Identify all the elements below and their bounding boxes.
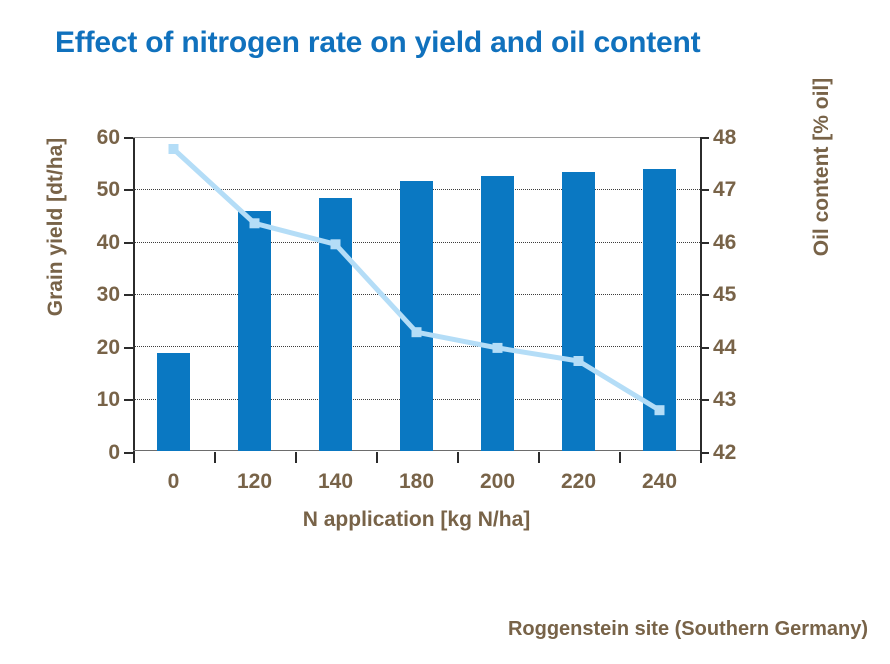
oil-content-line-series: [133, 137, 700, 451]
ytick-label-right-46: 46: [713, 231, 783, 255]
oil-marker-140[interactable]: [331, 239, 341, 249]
y-axis-title-left: Grain yield [dt/ha]: [44, 87, 68, 367]
ytick-label-left-10: 10: [50, 388, 120, 412]
tick-right-45: [700, 294, 709, 296]
tick-x-b0: [133, 452, 135, 463]
tick-right-47: [700, 189, 709, 191]
chart-plot-region: 60 50 40 30 20 10 0 48 47 46 45 44 43 42…: [0, 0, 890, 664]
tick-x-b4: [457, 452, 459, 463]
xtick-label-120: 120: [214, 470, 295, 494]
ytick-label-right-43: 43: [713, 388, 783, 412]
tick-left-40: [124, 242, 133, 244]
ytick-label-right-48: 48: [713, 126, 783, 150]
oil-content-markers: [169, 144, 665, 415]
xtick-label-240: 240: [619, 470, 700, 494]
oil-marker-0[interactable]: [169, 144, 179, 154]
plot-interior: [133, 137, 700, 451]
ytick-label-left-0: 0: [50, 441, 120, 465]
tick-x-b6: [619, 452, 621, 463]
tick-x-b1: [214, 452, 216, 463]
oil-marker-220[interactable]: [574, 356, 584, 366]
y-axis-title-right: Oil content [% oil]: [810, 27, 834, 307]
tick-left-30: [124, 294, 133, 296]
tick-right-48: [700, 137, 709, 139]
oil-content-polyline: [174, 149, 660, 410]
tick-x-b5: [538, 452, 540, 463]
oil-marker-120[interactable]: [250, 218, 260, 228]
ytick-label-right-44: 44: [713, 336, 783, 360]
oil-marker-200[interactable]: [493, 343, 503, 353]
tick-left-60: [124, 137, 133, 139]
xtick-label-200: 200: [457, 470, 538, 494]
tick-x-b3: [376, 452, 378, 463]
tick-left-0: [124, 452, 133, 454]
oil-marker-180[interactable]: [412, 327, 422, 337]
tick-right-44: [700, 347, 709, 349]
slide-canvas: Effect of nitrogen rate on yield and oil…: [0, 0, 890, 664]
tick-right-43: [700, 399, 709, 401]
tick-left-10: [124, 399, 133, 401]
ytick-label-right-45: 45: [713, 283, 783, 307]
x-axis-title: N application [kg N/ha]: [133, 508, 700, 532]
tick-x-b7: [700, 452, 702, 463]
ytick-label-right-42: 42: [713, 441, 783, 465]
xtick-label-0: 0: [133, 470, 214, 494]
tick-x-b2: [295, 452, 297, 463]
footer-note: Roggenstein site (Southern Germany): [508, 618, 868, 641]
xtick-label-180: 180: [376, 470, 457, 494]
oil-marker-240[interactable]: [655, 405, 665, 415]
tick-left-20: [124, 347, 133, 349]
xtick-label-140: 140: [295, 470, 376, 494]
ytick-label-right-47: 47: [713, 178, 783, 202]
xtick-label-220: 220: [538, 470, 619, 494]
tick-left-50: [124, 189, 133, 191]
tick-right-46: [700, 242, 709, 244]
